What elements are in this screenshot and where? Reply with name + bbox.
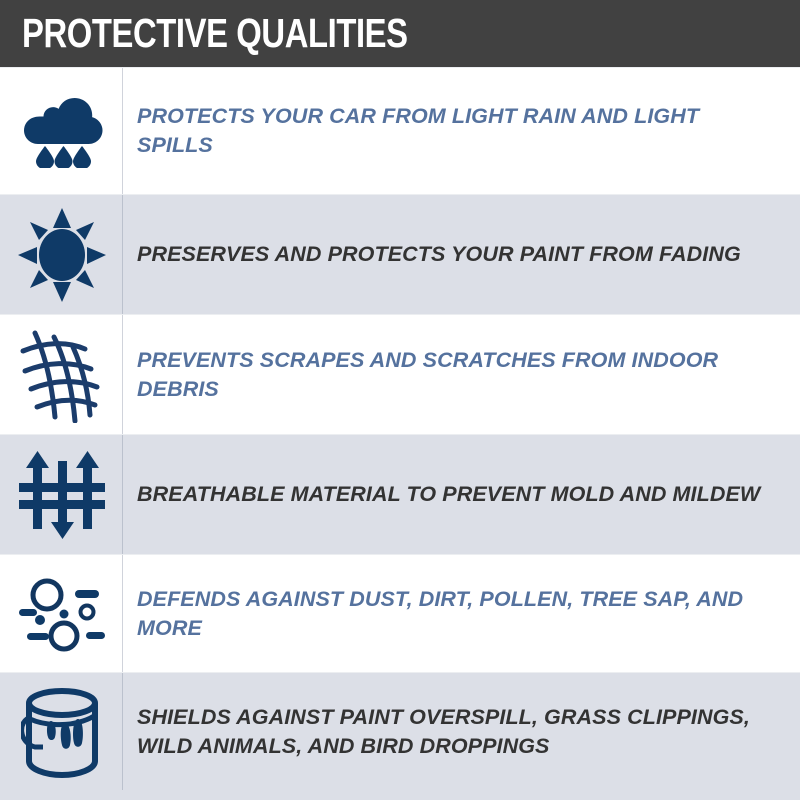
protective-qualities-infographic: PROTECTIVE QUALITIES PROTECTS YOUR CAR F… (0, 0, 800, 800)
rain-cloud-icon (19, 94, 105, 168)
icon-cell (0, 68, 123, 194)
page-title: PROTECTIVE QUALITIES (22, 13, 408, 54)
text-cell: BREATHABLE MATERIAL TO PREVENT MOLD AND … (123, 435, 800, 554)
sun-icon (18, 208, 106, 302)
list-item-label: PRESERVES AND PROTECTS YOUR PAINT FROM F… (137, 240, 741, 269)
list-item-label: PROTECTS YOUR CAR FROM LIGHT RAIN AND LI… (137, 102, 774, 160)
list-item: PRESERVES AND PROTECTS YOUR PAINT FROM F… (0, 194, 800, 314)
list-item: PROTECTS YOUR CAR FROM LIGHT RAIN AND LI… (0, 67, 800, 194)
list-item-label: DEFENDS AGAINST DUST, DIRT, POLLEN, TREE… (137, 585, 774, 643)
breathable-arrows-icon (17, 451, 107, 539)
feature-list: PROTECTS YOUR CAR FROM LIGHT RAIN AND LI… (0, 67, 800, 790)
list-item-label: SHIELDS AGAINST PAINT OVERSPILL, GRASS C… (137, 703, 774, 761)
icon-cell (0, 435, 123, 554)
scratch-mesh-icon (19, 327, 105, 423)
icon-cell (0, 673, 123, 790)
footer-strip (0, 790, 800, 800)
text-cell: PRESERVES AND PROTECTS YOUR PAINT FROM F… (123, 195, 800, 314)
list-item-label: BREATHABLE MATERIAL TO PREVENT MOLD AND … (137, 480, 760, 509)
paint-can-icon (21, 685, 103, 779)
icon-cell (0, 555, 123, 672)
text-cell: PREVENTS SCRAPES AND SCRATCHES FROM INDO… (123, 315, 800, 434)
list-item: PREVENTS SCRAPES AND SCRATCHES FROM INDO… (0, 314, 800, 434)
header-bar: PROTECTIVE QUALITIES (0, 0, 800, 67)
icon-cell (0, 315, 123, 434)
dust-particles-icon (17, 572, 107, 656)
icon-cell (0, 195, 123, 314)
text-cell: SHIELDS AGAINST PAINT OVERSPILL, GRASS C… (123, 673, 800, 790)
list-item-label: PREVENTS SCRAPES AND SCRATCHES FROM INDO… (137, 346, 774, 404)
list-item: SHIELDS AGAINST PAINT OVERSPILL, GRASS C… (0, 672, 800, 790)
text-cell: DEFENDS AGAINST DUST, DIRT, POLLEN, TREE… (123, 555, 800, 672)
list-item: DEFENDS AGAINST DUST, DIRT, POLLEN, TREE… (0, 554, 800, 672)
list-item: BREATHABLE MATERIAL TO PREVENT MOLD AND … (0, 434, 800, 554)
text-cell: PROTECTS YOUR CAR FROM LIGHT RAIN AND LI… (123, 68, 800, 194)
